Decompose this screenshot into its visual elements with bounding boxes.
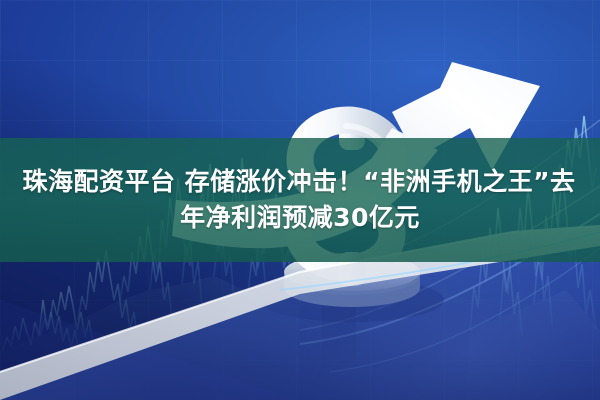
headline-text-block: 珠海配资平台 存储涨价冲击！“非洲手机之王”去 年净利润预减30亿元 bbox=[0, 138, 600, 262]
headline-line-1: 珠海配资平台 存储涨价冲击！“非洲手机之王”去 bbox=[22, 167, 575, 198]
headline-line-2: 年净利润预减30亿元 bbox=[180, 203, 420, 234]
news-banner: 珠海配资平台 存储涨价冲击！“非洲手机之王”去 年净利润预减30亿元 bbox=[0, 0, 600, 400]
